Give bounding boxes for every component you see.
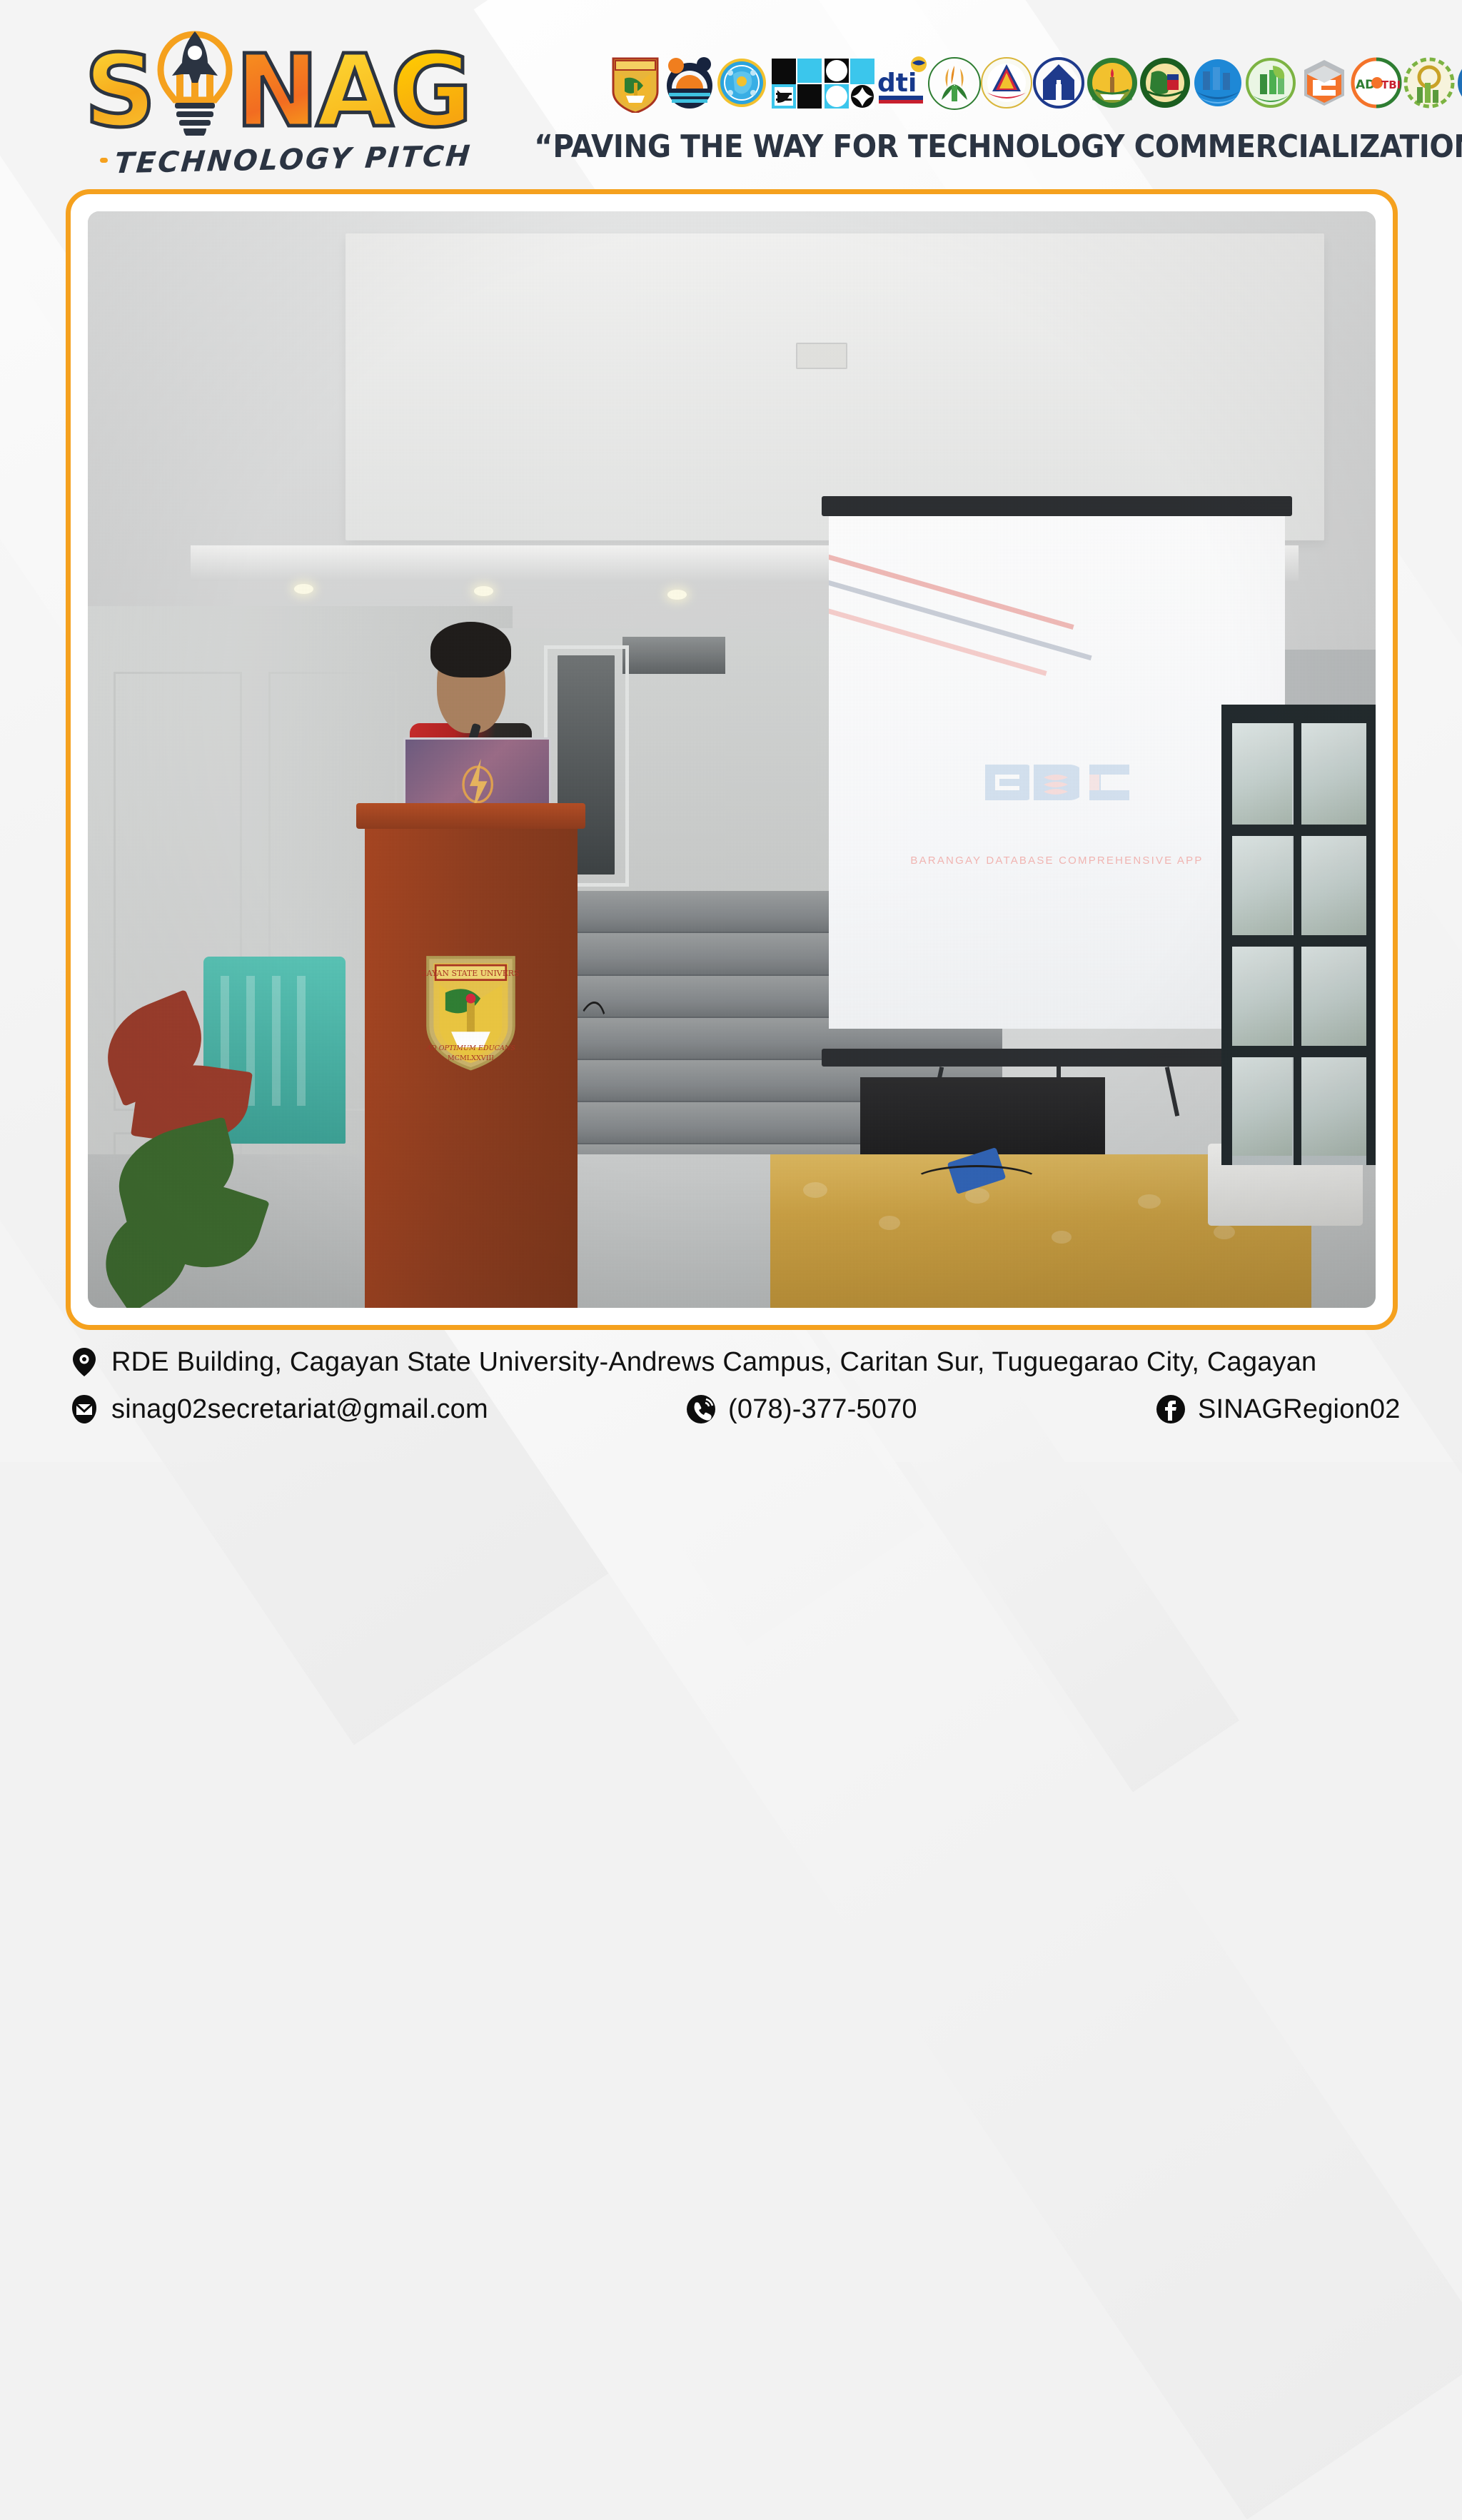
- screen-top-bar: [822, 496, 1291, 515]
- svg-text:TBI: TBI: [1381, 79, 1401, 91]
- sinag-logo: S: [84, 43, 470, 186]
- sunrise-wave-icon: [663, 56, 716, 113]
- tbi-globe-icon: TBI: [1456, 56, 1462, 113]
- isu-seal-icon: [1086, 56, 1139, 113]
- ceiling-recess: [346, 233, 1324, 540]
- potted-plant: [101, 979, 294, 1308]
- tagline-text: TECHNOLOGY PITCH: [113, 140, 473, 180]
- mosaic-mark-a-icon: [769, 56, 822, 113]
- footer-address: RDE Building, Cagayan State University-A…: [69, 1346, 1316, 1378]
- sinag-letter-g: G: [390, 47, 470, 137]
- da-icon: [927, 56, 980, 113]
- brand-subtagline: TECHNOLOGY PITCH: [100, 137, 471, 183]
- ceiling-light-panel: [796, 343, 847, 369]
- presenter-hair: [430, 622, 511, 677]
- podium: CAGAYAN STATE UNIVERSITY AD OPTIMUM EDUC…: [365, 803, 578, 1308]
- phone-icon: [685, 1393, 717, 1425]
- bdc-letter-c: [1084, 762, 1129, 803]
- dti-icon: dti: [874, 56, 927, 113]
- bdc-subtitle: BARANGAY DATABASE COMPREHENSIVE APP: [856, 855, 1257, 867]
- footer-email-text: sinag02secretariat@gmail.com: [111, 1394, 488, 1425]
- partner-logo-strip: dti: [610, 51, 1438, 117]
- facebook-icon: [1155, 1393, 1186, 1425]
- recessed-light: [667, 590, 687, 600]
- adopttbi-icon: AD TBI: [1350, 56, 1403, 113]
- ceiling-vent: [622, 637, 725, 674]
- tbi-gear-icon: [1403, 56, 1456, 113]
- photo-frame: BARANGAY DATABASE COMPREHENSIVE APP: [66, 189, 1398, 1330]
- sinag-letter-a: A: [316, 47, 390, 137]
- rdi-circle-icon: [716, 56, 769, 113]
- event-photo: BARANGAY DATABASE COMPREHENSIVE APP: [88, 211, 1376, 1308]
- svg-text:CAGAYAN STATE UNIVERSITY: CAGAYAN STATE UNIVERSITY: [422, 969, 520, 978]
- tagline-rule: [100, 158, 108, 163]
- nvsu-seal-icon: [1139, 56, 1191, 113]
- footer-phone-text: (078)-377-5070: [728, 1394, 917, 1425]
- envelope-icon: [69, 1393, 100, 1425]
- footer-address-text: RDE Building, Cagayan State University-A…: [111, 1347, 1316, 1378]
- sinag-wordmark: S: [84, 43, 470, 137]
- event-tagline: “PAVING THE WAY FOR TECHNOLOGY COMMERCIA…: [600, 126, 1442, 167]
- dost-icon: [980, 56, 1033, 113]
- house-arc-icon: [1033, 56, 1086, 113]
- page-footer: RDE Building, Cagayan State University-A…: [0, 1342, 1462, 1462]
- sinag-letter-s: S: [84, 47, 153, 137]
- bdc-logo: [929, 721, 1185, 845]
- location-pin-icon: [69, 1346, 100, 1378]
- csu-seal: CAGAYAN STATE UNIVERSITY AD OPTIMUM EDUC…: [422, 924, 520, 1096]
- cable: [912, 1165, 1041, 1198]
- window-wall: [1221, 705, 1376, 1165]
- bdc-letter-b: [984, 762, 1029, 803]
- orange-cube-icon: [1297, 56, 1350, 113]
- blue-gear-city-icon: [1191, 56, 1244, 113]
- bdc-letter-d: [1034, 762, 1079, 803]
- svg-text:AD OPTIMUM EDUCANS: AD OPTIMUM EDUCANS: [425, 1044, 515, 1052]
- footer-email[interactable]: sinag02secretariat@gmail.com: [69, 1393, 488, 1425]
- footer-phone[interactable]: (078)-377-5070: [685, 1393, 917, 1425]
- csu-shield-icon: [610, 56, 663, 113]
- green-city-icon: [1244, 56, 1297, 113]
- recessed-light: [294, 584, 313, 594]
- footer-facebook-text: SINAGRegion02: [1198, 1394, 1401, 1425]
- page-header: S: [0, 0, 1462, 193]
- svg-text:MCMLXXVIII: MCMLXXVIII: [448, 1054, 494, 1062]
- footer-facebook[interactable]: SINAGRegion02: [1155, 1393, 1401, 1425]
- mosaic-mark-b-icon: [822, 56, 874, 113]
- lightbulb-rocket-icon: [155, 29, 234, 136]
- podium-top: [356, 803, 585, 828]
- screen-surface: BARANGAY DATABASE COMPREHENSIVE APP: [829, 516, 1285, 1029]
- svg-text:dti: dti: [877, 69, 917, 98]
- event-tagline-text: “PAVING THE WAY FOR TECHNOLOGY COMMERCIA…: [535, 128, 1462, 165]
- sinag-letter-n: N: [236, 47, 316, 137]
